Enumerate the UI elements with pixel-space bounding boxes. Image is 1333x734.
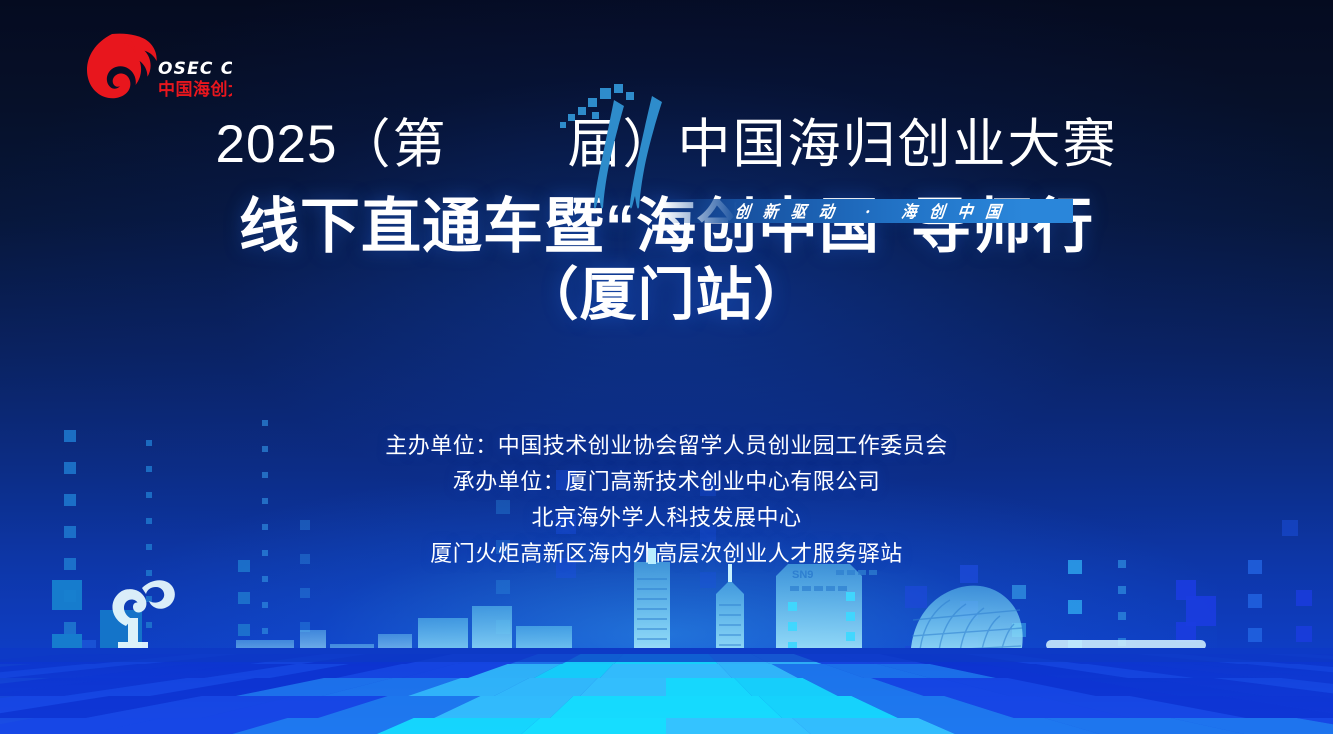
floor-tiles — [0, 654, 1333, 734]
sculpture — [112, 580, 174, 650]
event-title-line: 2025（第届）中国海归创业大赛 — [216, 118, 1118, 171]
sn9-label: SN9 — [792, 569, 813, 581]
tagline-text: 创新驱动 · 海创中国 — [721, 199, 1016, 223]
organizer-row: 北京海外学人科技发展中心 — [0, 500, 1333, 536]
decorative-square — [262, 420, 268, 426]
sub-headline: （厦门站） — [0, 264, 1333, 327]
logo-chinese-text: 中国海创大赛 — [158, 79, 232, 100]
event-name: 中国海归创业大赛 — [677, 115, 1117, 174]
organizer-row: 主办单位：中国技术创业协会留学人员创业园工作委员会 — [0, 428, 1333, 464]
svg-text:中国海创大赛: 中国海创大赛 — [158, 79, 232, 100]
event-prefix: （第 — [337, 115, 447, 174]
perspective-floor — [0, 648, 1333, 734]
event-year: 2025 — [216, 115, 338, 174]
svg-text:OSEC CHINA: OSEC CHINA — [158, 59, 232, 79]
event-suffix: 届） — [567, 115, 677, 174]
flame-icon — [87, 34, 157, 99]
tagline-bar: 创新驱动 · 海创中国 — [663, 199, 1073, 223]
organizer-row: 承办单位：厦门高新技术创业中心有限公司 — [0, 464, 1333, 500]
logo-latin-text: OSEC CHINA — [158, 59, 232, 79]
event-poster: OSEC CHINA 中国海创大赛 2025（第届）中国海归创业大赛 — [0, 0, 1333, 734]
osec-china-logo: OSEC CHINA 中国海创大赛 — [72, 28, 232, 106]
